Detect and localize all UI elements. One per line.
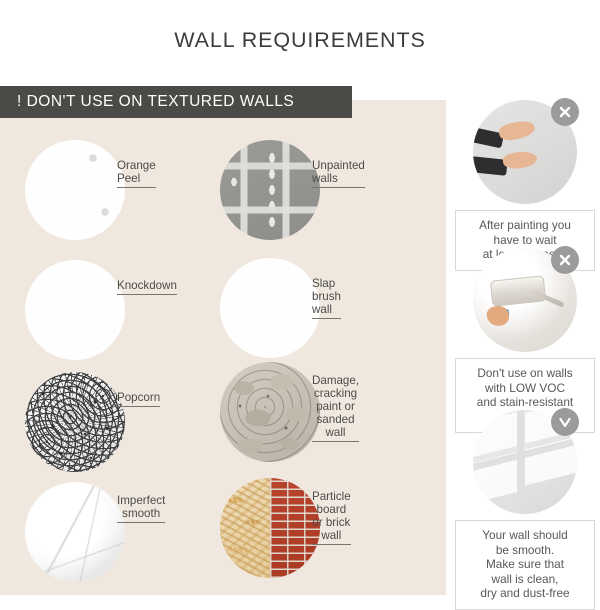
swatch-label-damaged-wall: Damage, cracking paint or sanded wall: [312, 361, 359, 457]
window-mullion-vertical: [517, 410, 524, 514]
label-underline: [312, 318, 341, 319]
infographic-page: WALL REQUIREMENTS ! DON'T USE ON TEXTURE…: [0, 0, 600, 600]
page-title: WALL REQUIREMENTS: [0, 28, 600, 53]
texture-damaged-wall-swatch: [220, 362, 320, 462]
tip-photo-wrapper: [473, 100, 577, 204]
label-underline: [312, 441, 359, 442]
label-underline: [117, 294, 177, 295]
tip-photo-wrapper: [473, 248, 577, 352]
swatch-label-knockdown: Knockdown: [117, 266, 177, 310]
hand-upper: [497, 118, 536, 143]
swatch-label-slap-brush-wall: Slap brush wall: [312, 264, 341, 334]
swatch-label-imperfect-smooth: Imperfect smooth: [117, 481, 165, 538]
warning-banner: ! DON'T USE ON TEXTURED WALLS: [0, 86, 352, 118]
swatch-label-text: Popcorn: [117, 391, 160, 404]
texture-unpainted-wall-swatch: [220, 140, 320, 240]
cross-icon: [551, 246, 579, 274]
swatch-label-particle-board-brick: Particle board or brick wall: [312, 477, 351, 560]
label-underline: [312, 544, 351, 545]
swatch-label-text: Unpainted walls: [312, 159, 365, 185]
hand-lower: [502, 150, 538, 171]
warning-banner-label: ! DON'T USE ON TEXTURED WALLS: [0, 93, 294, 111]
texture-popcorn-swatch: [25, 372, 125, 472]
swatch-label-unpainted-walls: Unpainted walls: [312, 146, 365, 203]
texture-imperfect-smooth-swatch: [25, 482, 125, 582]
tip-card-wait-4-weeks: After painting you have to wait at least…: [455, 100, 595, 271]
swatch-label-text: Particle board or brick wall: [312, 490, 351, 542]
texture-slap-brush-swatch: [220, 258, 320, 358]
label-underline: [117, 406, 160, 407]
swatch-label-orange-peel: Orange Peel: [117, 146, 156, 203]
check-icon: [551, 408, 579, 436]
tip-card-smooth-clean: Your wall should be smooth. Make sure th…: [455, 410, 595, 610]
texture-particle-board-brick-swatch: [220, 478, 320, 578]
swatch-label-text: Slap brush wall: [312, 277, 341, 316]
label-underline: [312, 187, 365, 188]
swatch-label-text: Orange Peel: [117, 159, 156, 185]
texture-knockdown-swatch: [25, 260, 125, 360]
swatch-label-popcorn: Popcorn: [117, 378, 160, 422]
tip-text-smooth-clean: Your wall should be smooth. Make sure th…: [455, 520, 595, 610]
tip-card-low-voc: Don't use on walls with LOW VOC and stai…: [455, 248, 595, 433]
label-underline: [117, 522, 165, 523]
hand-holding-roller: [485, 304, 510, 328]
swatch-label-text: Damage, cracking paint or sanded wall: [312, 374, 359, 439]
cross-icon: [551, 98, 579, 126]
tip-photo-wrapper: [473, 410, 577, 514]
swatch-label-text: Imperfect smooth: [117, 494, 165, 520]
swatch-label-text: Knockdown: [117, 279, 177, 292]
texture-orange-peel-swatch: [25, 140, 125, 240]
label-underline: [117, 187, 156, 188]
